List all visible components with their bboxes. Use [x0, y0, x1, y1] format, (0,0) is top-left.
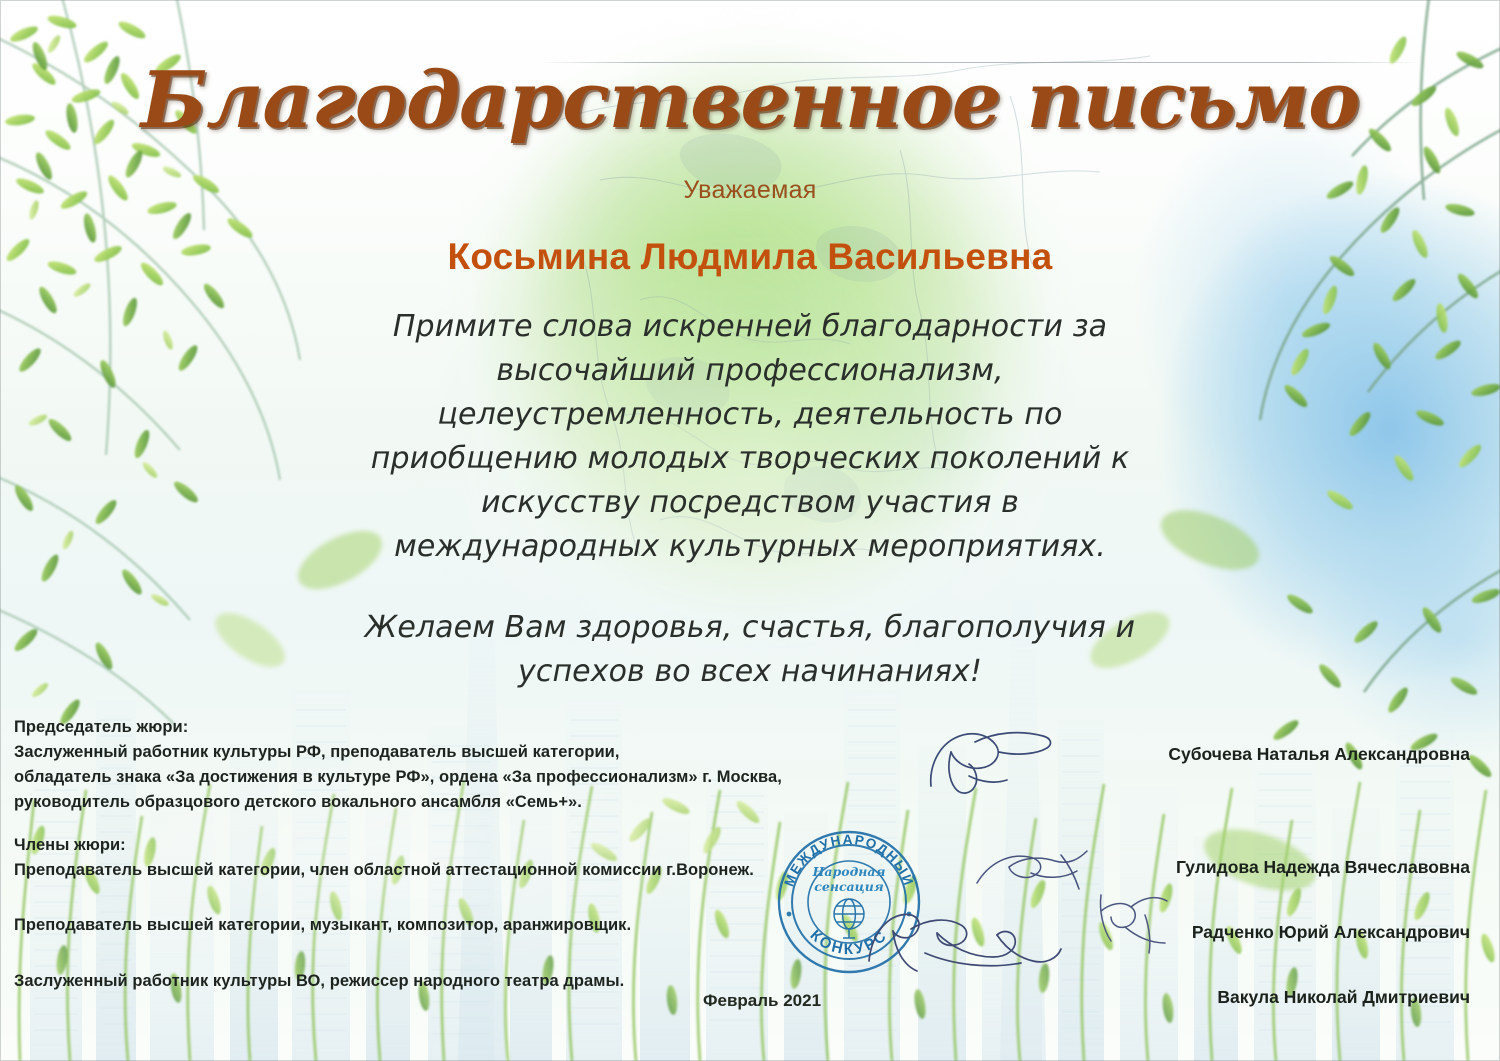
jury-chairman-block: Председатель жюри: Заслуженный работник …: [14, 715, 814, 815]
signature-1: [925, 722, 1055, 802]
jury-chairman-line: обладатель знака «За достижения в культу…: [14, 765, 814, 790]
body-line: высочайший профессионализм,: [340, 349, 1160, 393]
spacer: [14, 883, 814, 913]
jury-member-line: Преподаватель высшей категории, музыкант…: [14, 913, 814, 938]
date-text: Февраль 2021: [703, 991, 821, 1011]
spacer: [14, 939, 814, 969]
globe-icon: [834, 899, 864, 938]
jury-chairman-heading: Председатель жюри:: [14, 715, 814, 740]
signatory-name: Субочева Наталья Александровна: [990, 744, 1470, 765]
page-title: Благодарственное письмо: [0, 62, 1500, 140]
body-line: международных культурных мероприятиях.: [340, 525, 1160, 569]
jury-member-line: Преподаватель высшей категории, член обл…: [14, 858, 814, 883]
signature-3: [1095, 885, 1171, 957]
jury-members-heading: Члены жюри:: [14, 833, 814, 858]
signatory-name: Вакула Николай Дмитриевич: [990, 987, 1470, 1008]
signature-4: [865, 905, 1065, 983]
jury-credentials: Председатель жюри: Заслуженный работник …: [14, 715, 814, 994]
salutation-text: Уважаемая: [0, 176, 1500, 205]
body-line: Примите слова искренней благодарности за: [340, 305, 1160, 349]
jury-chairman-line: Заслуженный работник культуры РФ, препод…: [14, 740, 814, 765]
seal-inner-line-1: Народная: [812, 864, 886, 879]
body-line: успехов во всех начинаниях!: [340, 650, 1160, 694]
recipient-name: Косьмина Людмила Васильевна: [0, 236, 1500, 278]
body-line: целеустремленность, деятельность по: [340, 393, 1160, 437]
signature-2: [975, 845, 1095, 903]
body-paragraph-2: Желаем Вам здоровья, счастья, благополуч…: [340, 606, 1160, 694]
body-paragraph-1: Примите слова искренней благодарности за…: [340, 305, 1160, 570]
jury-members-block: Члены жюри: Преподаватель высшей категор…: [14, 833, 814, 993]
jury-chairman-line: руководитель образцового детского вокаль…: [14, 790, 814, 815]
seal-inner-line-2: сенсация: [814, 879, 884, 894]
body-line: искусству посредством участия в: [340, 481, 1160, 525]
certificate-canvas: Благодарственное письмо Уважаемая Косьми…: [0, 0, 1500, 1061]
jury-member-line: Заслуженный работник культуры ВО, режисс…: [14, 969, 814, 994]
body-line: Желаем Вам здоровья, счастья, благополуч…: [340, 606, 1160, 650]
body-line: приобщению молодых творческих поколений …: [340, 437, 1160, 481]
